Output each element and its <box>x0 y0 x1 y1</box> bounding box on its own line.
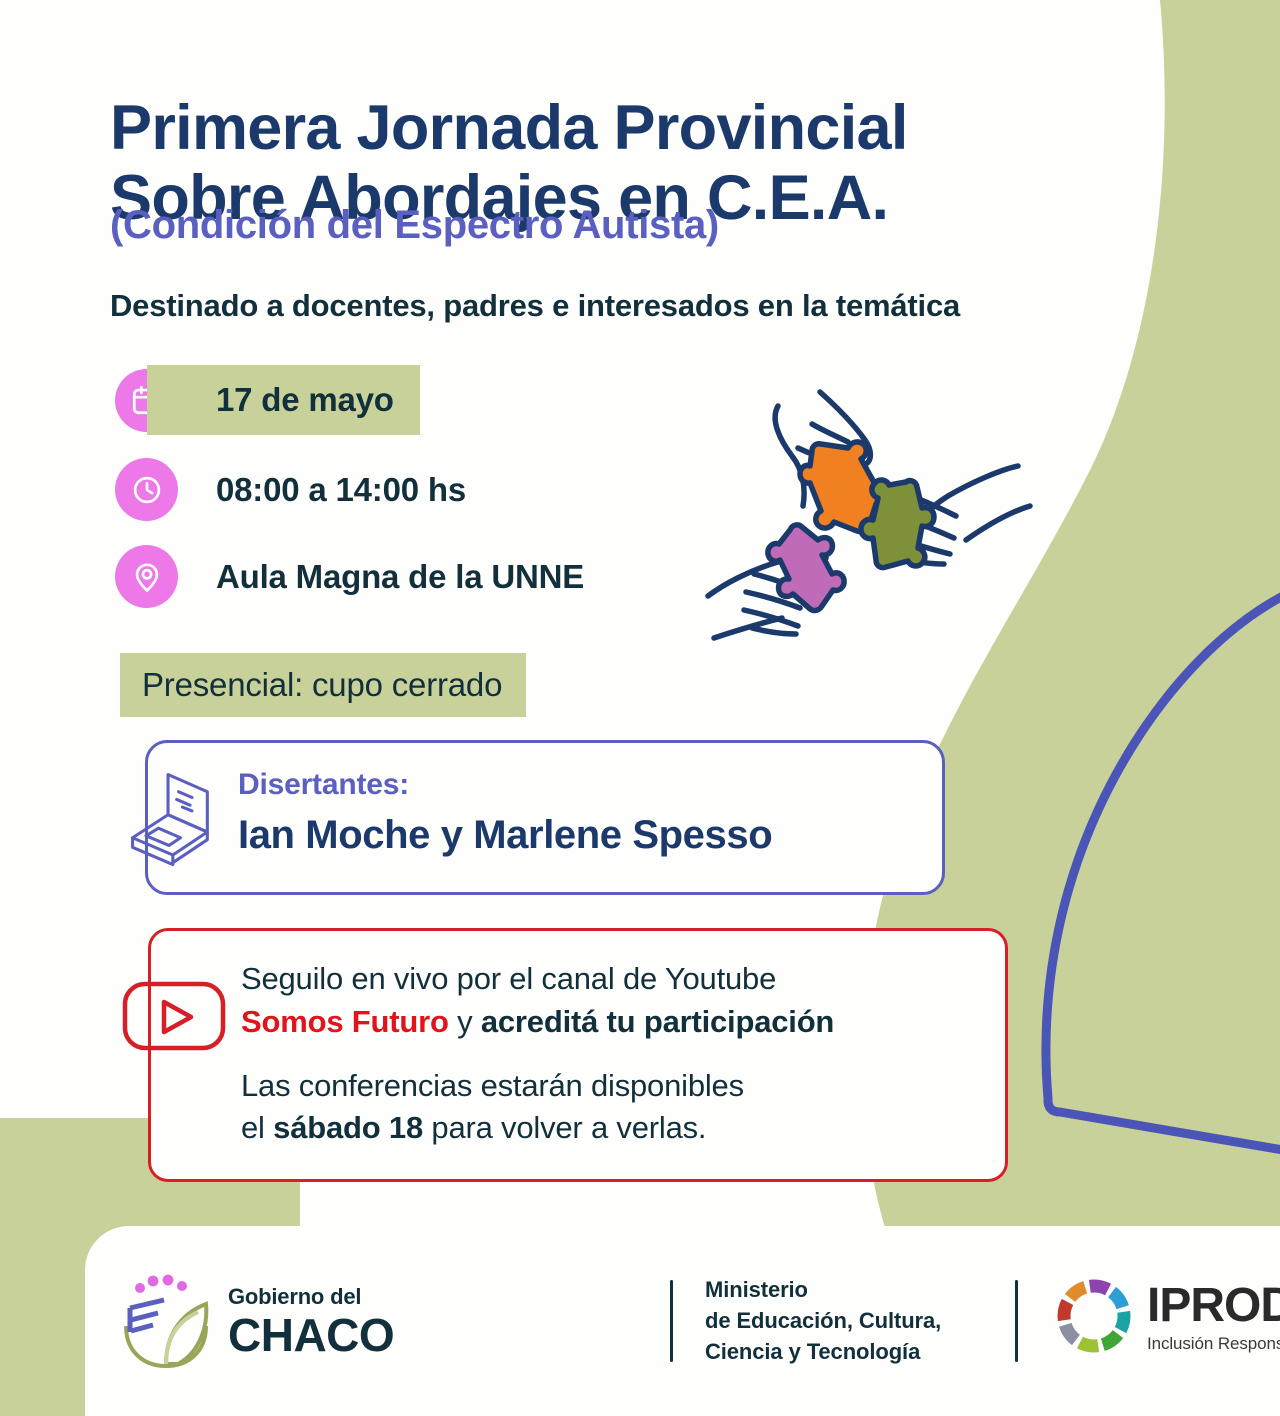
chaco-leaf-logo <box>120 1274 212 1369</box>
info-row-time: 08:00 a 14:00 hs <box>115 458 492 521</box>
youtube-line-2-bold: acreditá tu participación <box>481 1004 834 1039</box>
chaco-small-text: Gobierno del <box>228 1286 394 1308</box>
youtube-text-block: Seguilo en vivo por el canal de Youtube … <box>241 959 1001 1149</box>
youtube-line-2: Somos Futuro y acreditá tu participación <box>241 1002 1001 1043</box>
youtube-line-4-post: para volver a verlas. <box>423 1110 706 1145</box>
youtube-play-icon[interactable] <box>119 976 229 1056</box>
footer-divider-1 <box>670 1280 673 1362</box>
youtube-card: Seguilo en vivo por el canal de Youtube … <box>148 928 1008 1182</box>
speakers-label: Disertantes: <box>238 768 409 802</box>
date-text: 17 de mayo <box>178 381 420 419</box>
speakers-card: Disertantes: Ian Moche y Marlene Spesso <box>145 740 945 895</box>
ministry-label: Ministerio de Educación, Cultura, Cienci… <box>705 1275 941 1367</box>
puzzle-piece-magenta <box>768 525 844 611</box>
ministry-line-1: Ministerio <box>705 1275 941 1306</box>
youtube-channel-name: Somos Futuro <box>241 1004 449 1039</box>
youtube-line-4-pre: el <box>241 1110 273 1145</box>
youtube-line-2-mid: y <box>449 1004 481 1039</box>
iprodich-logo: IPRODICH Inclusión Responsable <box>1051 1273 1280 1359</box>
iprodich-wordmark: IPRODICH Inclusión Responsable <box>1147 1278 1280 1354</box>
clock-icon <box>115 458 178 521</box>
youtube-line-4: el sábado 18 para volver a verlas. <box>241 1107 1001 1149</box>
title-line-1: Primera Jornada Provincial <box>110 93 908 163</box>
footer-divider-2 <box>1015 1280 1018 1362</box>
chaco-government-logo: Gobierno del CHACO <box>120 1274 394 1369</box>
page-subtitle: (Condición del Espectro Autista) <box>110 203 719 248</box>
youtube-line-4-bold: sábado 18 <box>273 1110 423 1145</box>
iprodich-name: IPRODICH <box>1147 1278 1280 1333</box>
youtube-line-1: Seguilo en vivo por el canal de Youtube <box>241 959 1001 1000</box>
footer-panel: Gobierno del CHACO Ministerio de Educaci… <box>85 1226 1280 1416</box>
hands-puzzle-pieces-illustration <box>700 378 1050 658</box>
location-pin-icon <box>115 545 178 608</box>
iprodich-color-wheel-logo <box>1051 1273 1137 1359</box>
info-row-date: 17 de mayo <box>115 365 420 435</box>
ministry-line-2: de Educación, Cultura, <box>705 1306 941 1337</box>
info-row-place: Aula Magna de la UNNE <box>115 545 610 608</box>
ministry-line-3: Ciencia y Tecnología <box>705 1337 941 1368</box>
modality-badge: Presencial: cupo cerrado <box>120 653 526 717</box>
youtube-line-3: Las conferencias estarán disponibles <box>241 1065 1001 1107</box>
poster-content: Primera Jornada Provincial Sobre Abordaj… <box>0 0 1280 1416</box>
speakers-names: Ian Moche y Marlene Spesso <box>238 813 772 858</box>
time-text: 08:00 a 14:00 hs <box>178 471 492 509</box>
date-highlight: 17 de mayo <box>147 365 420 435</box>
iprodich-tagline: Inclusión Responsable <box>1147 1334 1280 1354</box>
audience-line: Destinado a docentes, padres e interesad… <box>110 288 960 324</box>
chaco-wordmark: Gobierno del CHACO <box>228 1286 394 1358</box>
chaco-large-text: CHACO <box>228 1312 394 1358</box>
poster-canvas: Primera Jornada Provincial Sobre Abordaj… <box>0 0 1280 1416</box>
puzzle-piece-olive <box>861 480 934 568</box>
laptop-icon <box>123 763 238 878</box>
place-text: Aula Magna de la UNNE <box>178 558 610 596</box>
